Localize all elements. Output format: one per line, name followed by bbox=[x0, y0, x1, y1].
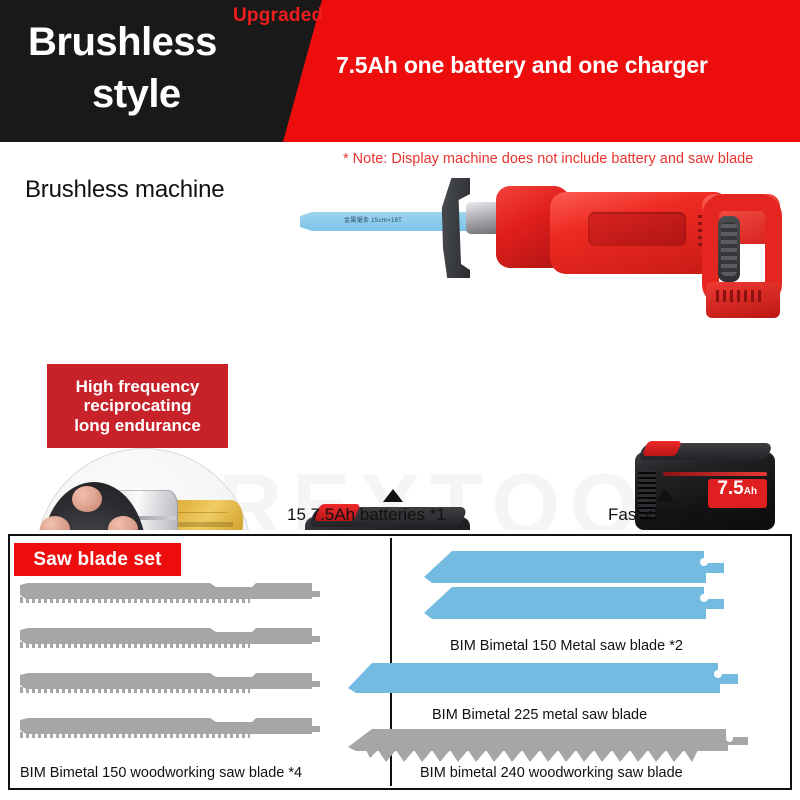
saw-blade-print: 金属锯条 15cm×18T bbox=[344, 215, 402, 224]
battery-capacity-unit: Ah bbox=[744, 487, 757, 497]
saw-mount-vents bbox=[716, 290, 762, 302]
brand-title-line1: Brushless bbox=[28, 22, 217, 62]
battery-caption: 15 7.5Ah batteries *1 bbox=[287, 505, 446, 525]
blade-teeth-240-icon bbox=[366, 748, 698, 764]
blade-teeth bbox=[20, 687, 250, 693]
feature-callout-box: High frequency reciprocating long endura… bbox=[47, 364, 228, 448]
product-showcase-section: GREYTOOL * Note: Display machine does no… bbox=[0, 142, 800, 530]
section-title: Brushless machine bbox=[25, 176, 224, 204]
blade-caption-metal-225: BIM Bimetal 225 metal saw blade bbox=[432, 707, 647, 723]
blade-metal-150-2 bbox=[424, 587, 724, 619]
upgraded-badge: Upgraded bbox=[233, 5, 323, 27]
blade-caption-wood-150: BIM Bimetal 150 woodworking saw blade *4 bbox=[20, 765, 302, 781]
feature-line-3: long endurance bbox=[74, 416, 201, 435]
motor-coil bbox=[72, 486, 102, 512]
brushless-motor-image bbox=[36, 460, 261, 530]
feature-line-2: reciprocating bbox=[84, 396, 192, 415]
charger-caption: Fast charger bbox=[608, 505, 703, 525]
saw-blade-set-badge: Saw blade set bbox=[14, 543, 181, 576]
battery-stripe bbox=[663, 472, 767, 476]
brand-title-line2: style bbox=[92, 74, 181, 114]
blade-teeth bbox=[20, 732, 250, 738]
saw-side-panel bbox=[588, 212, 686, 246]
blade-caption-wood-240: BIM bimetal 240 woodworking saw blade bbox=[420, 765, 683, 781]
saw-handle-grip bbox=[718, 216, 740, 282]
motor-coil bbox=[40, 516, 70, 530]
blade-mount-hole bbox=[726, 735, 733, 742]
blade-teeth bbox=[20, 597, 250, 603]
header-banner: Upgraded Brushless style 7.5Ah one batte… bbox=[0, 0, 800, 142]
blade-mount-hole bbox=[714, 670, 722, 678]
battery-capacity-label: 7.5Ah bbox=[708, 479, 767, 509]
blade-mount-hole bbox=[700, 558, 708, 566]
header-tagline: 7.5Ah one battery and one charger bbox=[336, 52, 708, 79]
blade-metal-225 bbox=[348, 663, 738, 693]
blade-caption-metal-150: BIM Bimetal 150 Metal saw blade *2 bbox=[450, 638, 683, 654]
blade-mount-hole bbox=[700, 594, 708, 602]
saw-blade-set-badge-label: Saw blade set bbox=[33, 549, 161, 571]
battery-pointer-icon bbox=[383, 489, 403, 502]
motor-coil bbox=[108, 516, 138, 530]
battery-latch bbox=[642, 441, 682, 456]
blade-teeth bbox=[20, 642, 250, 648]
battery-capacity-value: 7.5 bbox=[717, 479, 743, 498]
feature-line-1: High frequency bbox=[76, 377, 200, 396]
charger-pointer-icon bbox=[655, 489, 675, 502]
reciprocating-saw-image: 金属锯条 15cm×18T bbox=[300, 164, 780, 464]
blade-metal-150-1 bbox=[424, 551, 724, 583]
